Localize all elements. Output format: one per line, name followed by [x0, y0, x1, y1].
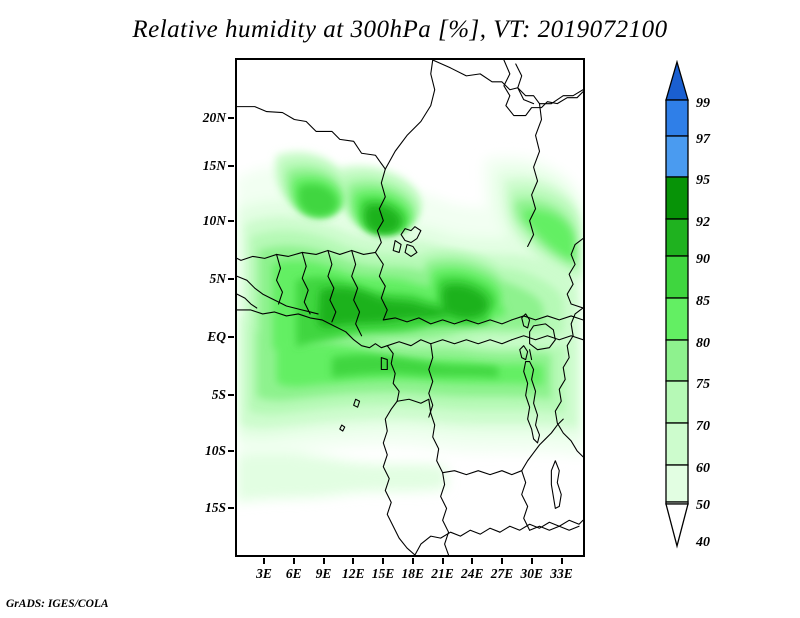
x-tickmark [323, 558, 325, 564]
y-tickmark [228, 507, 234, 509]
x-tickmark [471, 558, 473, 564]
colorbar-cap-bottom [666, 504, 688, 546]
y-axis-label-10n: 10N [203, 213, 226, 229]
y-axis-label-eq: EQ [207, 329, 226, 345]
y-axis-label-10s: 10S [205, 443, 226, 459]
y-axis-label-5n: 5N [210, 271, 227, 287]
x-axis-label-15e: 15E [372, 566, 395, 582]
colorbar-label-99: 99 [696, 96, 710, 112]
colorbar-label-97: 97 [696, 132, 710, 148]
map-plot-area: 20N 15N 10N 5N EQ 5S 10S 15S 3E 6E 9E 12… [235, 58, 585, 557]
page-title: Relative humidity at 300hPa [%], VT: 201… [0, 16, 800, 44]
x-axis-label-24e: 24E [461, 566, 484, 582]
x-axis-label-12e: 12E [342, 566, 365, 582]
y-tickmark [228, 336, 234, 338]
x-tickmark [561, 558, 563, 564]
x-axis-label-21e: 21E [431, 566, 454, 582]
colorbar-legend: 99 97 95 92 90 85 80 75 70 60 50 40 [664, 60, 734, 550]
colorbar-label-50: 50 [696, 498, 710, 514]
y-axis-label-15n: 15N [203, 158, 226, 174]
map-frame [235, 58, 585, 557]
colorbar-swatches [664, 60, 694, 550]
colorbar-label-85: 85 [696, 294, 710, 310]
x-axis-label-9e: 9E [316, 566, 332, 582]
x-tickmark [442, 558, 444, 564]
colorbar-label-60: 60 [696, 461, 710, 477]
x-axis-label-6e: 6E [286, 566, 302, 582]
footer-attribution: GrADS: IGES/COLA [6, 598, 109, 610]
colorbar-label-95: 95 [696, 173, 710, 189]
coastline-and-borders [237, 60, 583, 555]
x-tickmark [382, 558, 384, 564]
x-axis-label-30e: 30E [521, 566, 544, 582]
colorbar-label-75: 75 [696, 377, 710, 393]
x-tickmark [412, 558, 414, 564]
colorbar-label-90: 90 [696, 252, 710, 268]
x-tickmark [263, 558, 265, 564]
x-tickmark [501, 558, 503, 564]
y-tickmark [228, 394, 234, 396]
x-tickmark [293, 558, 295, 564]
colorbar-label-80: 80 [696, 336, 710, 352]
y-tickmark [228, 450, 234, 452]
x-tickmark [352, 558, 354, 564]
y-axis-label-20n: 20N [203, 110, 226, 126]
y-tickmark [228, 117, 234, 119]
colorbar-cap-top [666, 62, 688, 100]
colorbar-label-40: 40 [696, 535, 710, 551]
x-axis-label-3e: 3E [256, 566, 272, 582]
y-axis-label-5s: 5S [212, 387, 226, 403]
y-tickmark [228, 278, 234, 280]
x-tickmark [531, 558, 533, 564]
x-axis-label-18e: 18E [402, 566, 425, 582]
y-tickmark [228, 165, 234, 167]
colorbar-label-92: 92 [696, 215, 710, 231]
x-axis-label-33e: 33E [550, 566, 573, 582]
x-axis-label-27e: 27E [491, 566, 514, 582]
colorbar-label-70: 70 [696, 419, 710, 435]
y-axis-label-15s: 15S [205, 500, 226, 516]
y-tickmark [228, 220, 234, 222]
